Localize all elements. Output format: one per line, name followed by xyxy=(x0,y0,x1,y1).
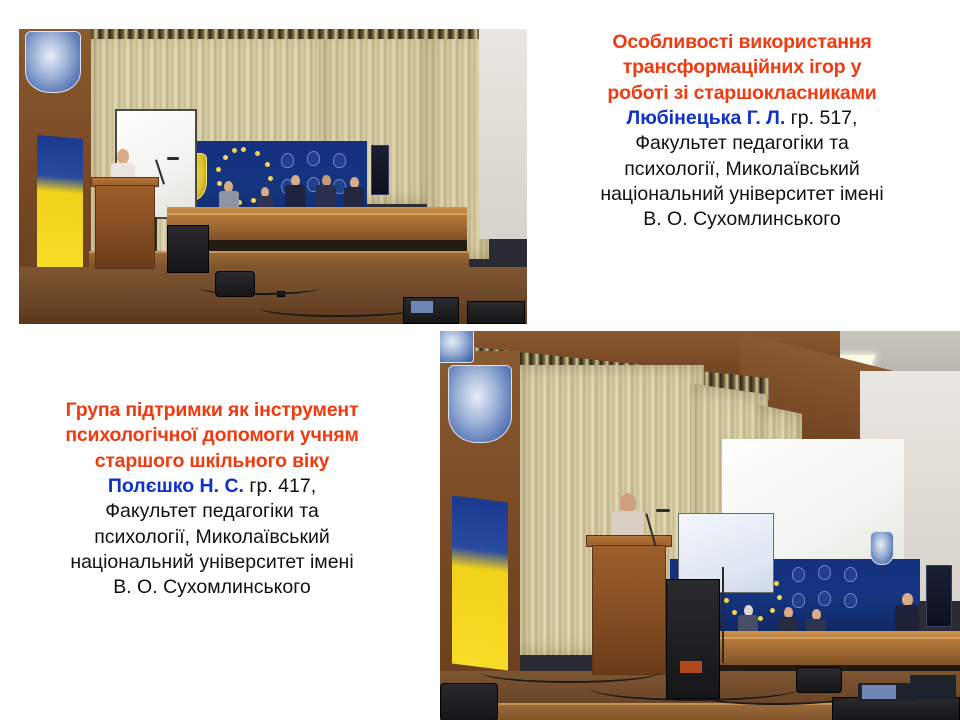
cable xyxy=(259,299,419,317)
laptop-screen xyxy=(862,685,896,699)
title-line: роботі зі старшокласниками xyxy=(532,81,952,106)
wall-medallion xyxy=(333,153,346,168)
ukrainian-flag-icon xyxy=(37,135,83,271)
affiliation-line: психології, Миколаївський xyxy=(2,525,422,550)
right-wall xyxy=(479,29,527,239)
microphone-head-icon xyxy=(167,157,179,160)
wall-medallion xyxy=(844,593,857,608)
podium xyxy=(592,545,666,675)
presidium-table-front xyxy=(167,213,467,241)
author-name: Полєшко Н. С. xyxy=(108,475,244,497)
photo-bottom-right xyxy=(440,331,960,720)
presidium-person-body xyxy=(285,185,305,209)
university-emblem-banner-icon xyxy=(440,331,474,363)
university-emblem-banner-icon xyxy=(448,365,512,443)
affiliation-line: Факультет педагогіки та xyxy=(532,131,952,156)
affiliation-line: психології, Миколаївський xyxy=(532,157,952,182)
hall-scene-bottom xyxy=(440,331,960,720)
author-group: гр. 517, xyxy=(785,107,857,129)
wall-medallion xyxy=(818,565,831,580)
title-line: Особливості використання xyxy=(532,30,952,55)
affiliation-line: національний університет імені xyxy=(2,550,422,575)
hall-scene-top xyxy=(19,29,527,324)
mic-pole xyxy=(722,567,724,663)
author-group: гр. 417, xyxy=(244,475,316,497)
auditorium-seat xyxy=(440,683,498,720)
curtain-valance xyxy=(89,29,489,39)
podium xyxy=(95,185,155,269)
side-emblem-icon xyxy=(870,531,894,565)
equipment-table xyxy=(467,301,525,324)
title-line: трансформаційних ігор у xyxy=(532,55,952,80)
speaker-head xyxy=(117,149,129,164)
laptop xyxy=(910,675,956,699)
wall-medallion xyxy=(818,591,831,606)
author-line: Полєшко Н. С. гр. 417, xyxy=(2,474,422,499)
affiliation-line: Факультет педагогіки та xyxy=(2,499,422,524)
roll-up-banner xyxy=(371,145,389,195)
speaker-head xyxy=(620,493,636,513)
wall-medallion xyxy=(844,567,857,582)
photo-top-left xyxy=(19,29,527,324)
ukrainian-flag-icon xyxy=(452,496,508,671)
author-name: Любінецька Г. Л. xyxy=(627,107,786,129)
affiliation-line: В. О. Сухомлинського xyxy=(2,575,422,600)
speaker-badge xyxy=(680,661,702,673)
laptop-screen xyxy=(411,301,433,313)
presidium-person-body xyxy=(316,185,336,209)
wall-medallion xyxy=(281,153,294,168)
cable xyxy=(700,687,850,705)
title-line: старшого шкільного віку xyxy=(2,449,422,474)
wall-medallion xyxy=(307,151,320,166)
floor-speaker xyxy=(167,225,209,273)
text-block-top-right: Особливості використання трансформаційни… xyxy=(532,30,952,233)
wall-medallion xyxy=(792,567,805,582)
microphone-head-icon xyxy=(656,509,670,512)
university-emblem-banner-icon xyxy=(25,31,81,93)
affiliation-line: В. О. Сухомлинського xyxy=(532,207,952,232)
presidium-person-body xyxy=(344,187,364,209)
affiliation-line: національний університет імені xyxy=(532,182,952,207)
title-line: психологічної допомоги учням xyxy=(2,423,422,448)
roll-up-banner xyxy=(926,565,952,627)
text-block-bottom-left: Група підтримки як інструмент психологіч… xyxy=(2,398,422,601)
cable xyxy=(199,281,319,295)
presentation-slide: Особливості використання трансформаційни… xyxy=(0,0,960,720)
title-line: Група підтримки як інструмент xyxy=(2,398,422,423)
author-line: Любінецька Г. Л. гр. 517, xyxy=(532,106,952,131)
wall-medallion xyxy=(792,593,805,608)
